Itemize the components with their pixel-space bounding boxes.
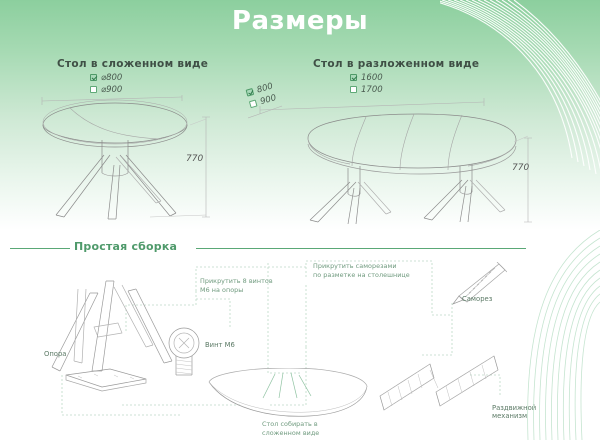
note-attach-self-tapping: Прикрутить саморезами по разметке на сто… [313,262,410,279]
label-extension-mechanism: Раздвижной механизм [492,404,536,420]
checkbox-label: ⌀900 [101,85,122,95]
checkbox-checked-icon[interactable] [90,74,97,81]
drawing-table-extended [248,90,548,225]
dimension-height-extended: 770 [512,163,529,173]
assembly-section-title: Простая сборка [74,240,177,253]
poster-page: Размеры Стол в сложенном виде ⌀800 ⌀900 [0,0,600,440]
label-self-tapping-screw: Саморез [462,295,492,303]
checkbox-unchecked-icon[interactable] [90,86,97,93]
drawing-table-folded [30,95,240,220]
panel-title-folded: Стол в сложенном виде [57,58,208,70]
checkbox-label: 1600 [361,73,383,83]
divider-line-right [196,248,526,249]
page-title: Размеры [0,6,600,36]
note-assemble-folded: Стол собирать в сложенном виде [262,420,319,437]
checkbox-row-diameter-800[interactable]: ⌀800 [90,72,122,83]
checkbox-checked-icon[interactable] [350,74,357,81]
checkbox-row-diameter-900[interactable]: ⌀900 [90,84,122,95]
label-bolt-m6: Винт М6 [205,341,235,349]
checkbox-label: ⌀800 [101,73,122,83]
dimension-height-folded: 770 [186,154,203,164]
checkbox-group-diameter: ⌀800 ⌀900 [90,72,122,96]
label-support-leg: Опора [44,350,66,358]
art-table-top-underside [205,368,370,420]
note-attach-bolts: Прикрутить 8 винтов М6 на опоры [200,277,273,294]
panel-title-extended: Стол в разложенном виде [313,58,479,70]
divider-line-left [10,248,70,249]
checkbox-row-length-1600[interactable]: 1600 [350,72,383,83]
